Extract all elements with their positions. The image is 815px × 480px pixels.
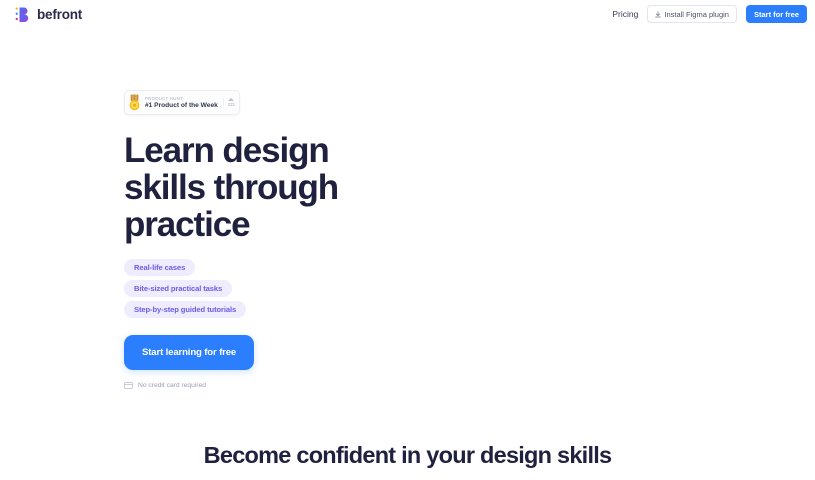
product-hunt-title: #1 Product of the Week <box>145 102 218 109</box>
upvote-count: 121 <box>228 102 235 107</box>
start-learning-for-free-button[interactable]: Start learning for free <box>124 335 254 370</box>
download-icon <box>655 11 661 18</box>
caret-up-icon <box>228 98 234 101</box>
hero-tag-list: Real-life cases Bite-sized practical tas… <box>124 259 815 318</box>
product-hunt-upvote[interactable]: 121 <box>223 98 235 107</box>
hero-tag: Step-by-step guided tutorials <box>124 301 246 318</box>
credit-card-icon <box>124 382 133 389</box>
gold-medal-icon <box>128 94 141 111</box>
start-for-free-button[interactable]: Start for free <box>746 5 807 23</box>
no-credit-card-label: No credit card required <box>138 382 206 389</box>
befront-b-mark-icon <box>14 6 31 23</box>
section-title: Become confident in your design skills <box>0 442 815 469</box>
brand-name: befront <box>37 7 82 22</box>
hero-section: Product Hunt #1 Product of the Week 121 … <box>0 28 815 389</box>
install-figma-plugin-label: Install Figma plugin <box>664 10 729 19</box>
product-hunt-badge[interactable]: Product Hunt #1 Product of the Week 121 <box>124 90 240 115</box>
site-header: befront Pricing Install Figma plugin Sta… <box>0 0 815 28</box>
hero-tag: Bite-sized practical tasks <box>124 280 232 297</box>
install-figma-plugin-button[interactable]: Install Figma plugin <box>647 5 737 23</box>
hero-tag: Real-life cases <box>124 259 195 276</box>
hero-headline: Learn design skills through practice <box>124 133 384 243</box>
product-hunt-text: Product Hunt #1 Product of the Week <box>145 96 218 109</box>
product-hunt-kicker: Product Hunt <box>145 96 218 101</box>
no-credit-card-note: No credit card required <box>124 382 815 389</box>
nav-link-pricing[interactable]: Pricing <box>612 9 638 19</box>
header-nav: Pricing Install Figma plugin Start for f… <box>612 5 807 23</box>
brand-logo[interactable]: befront <box>14 6 82 23</box>
